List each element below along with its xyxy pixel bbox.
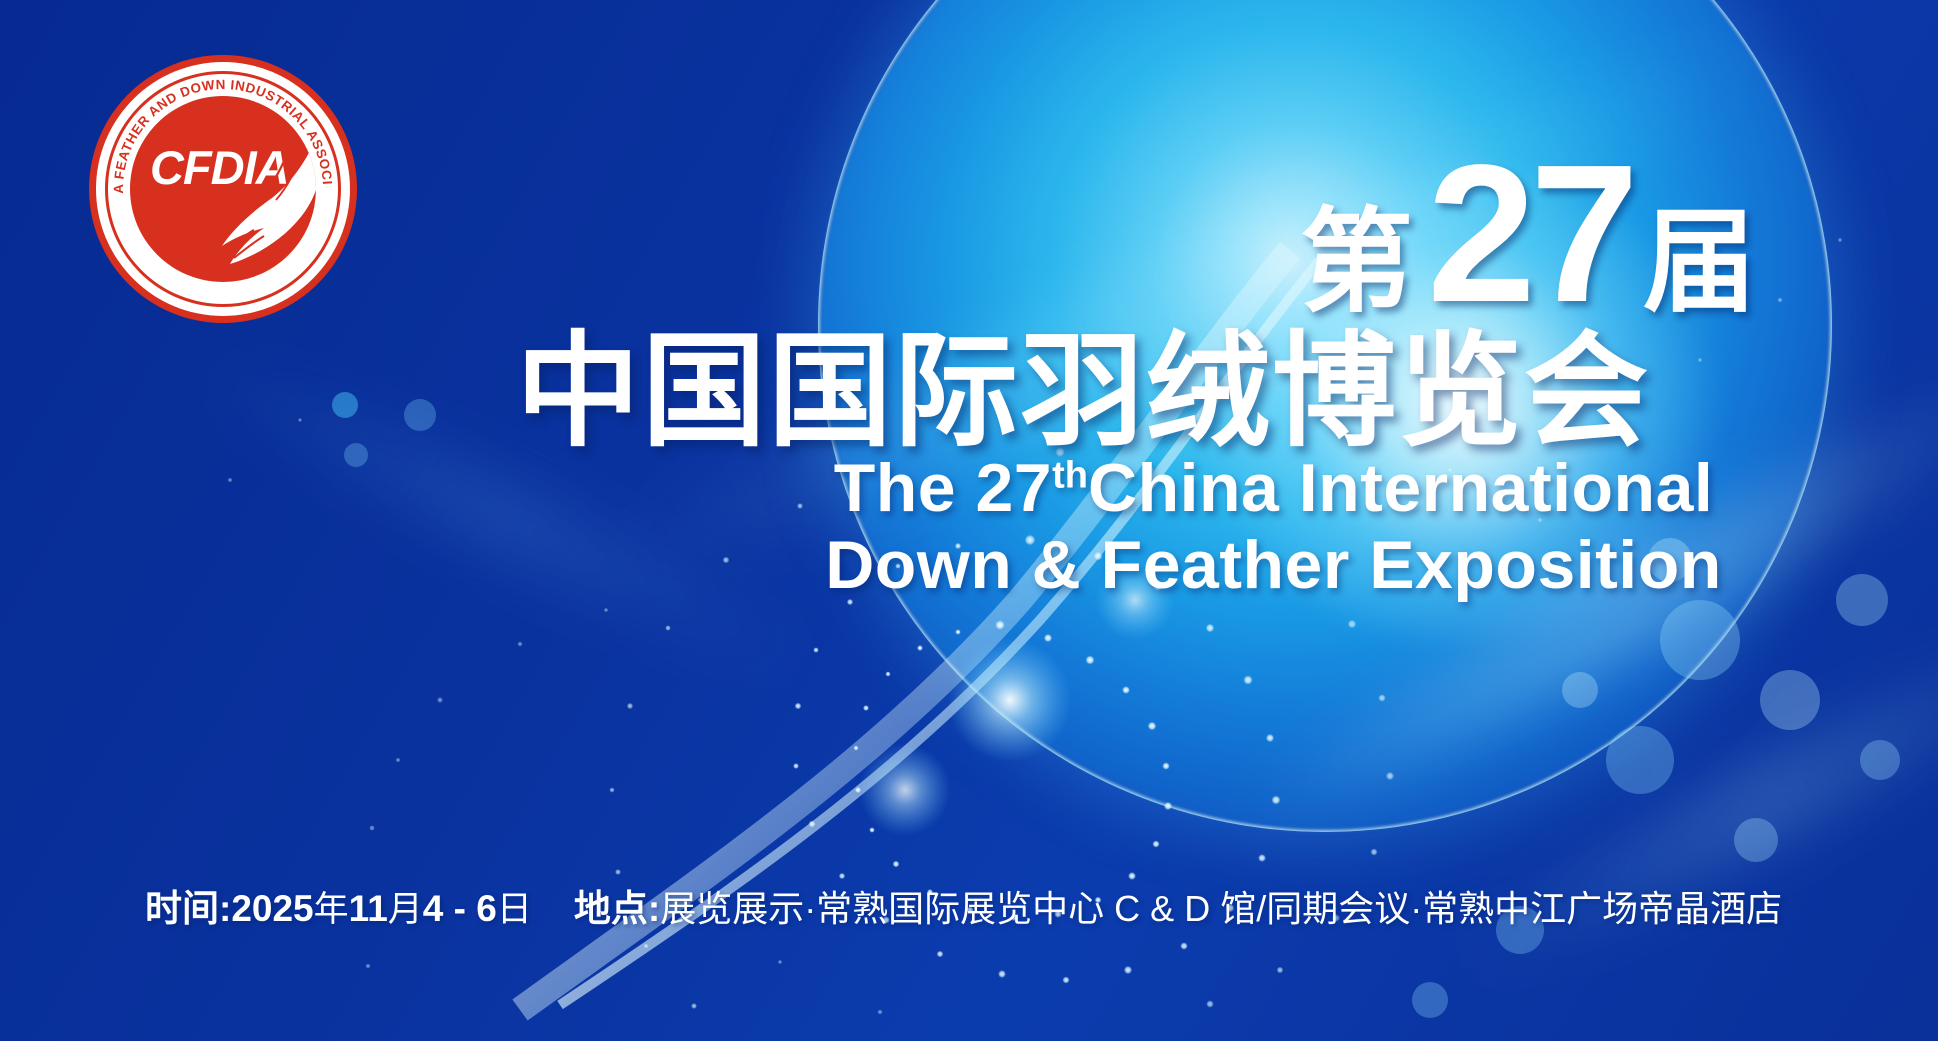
date-label: 时间	[145, 878, 219, 932]
date-year: 2025	[231, 888, 313, 930]
venue-label: 地点	[574, 878, 648, 932]
edition-title: 第 27 届	[1300, 150, 1756, 319]
ordinal-superscript: th	[1052, 454, 1088, 496]
main-title-english-line1-post: China International	[1088, 450, 1713, 526]
promotional-banner: CHINA FEATHER AND DOWN INDUSTRIAL ASSOCI…	[0, 0, 1938, 1041]
date-month-unit: 月	[388, 881, 423, 932]
main-title-english-line2: Down & Feather Exposition	[666, 529, 1881, 602]
main-title-english: The 27thChina International Down & Feath…	[666, 452, 1881, 603]
venue-colon: :	[648, 888, 660, 930]
date-colon: :	[219, 888, 231, 930]
edition-prefix: 第	[1300, 206, 1413, 319]
main-title-english-line1-pre: The 27	[834, 450, 1052, 526]
cfdia-logo: CHINA FEATHER AND DOWN INDUSTRIAL ASSOCI…	[96, 62, 350, 316]
event-details: 时间:2025年11月4 - 6日 地点:展览展示·常熟国际展览中心 C & D…	[145, 878, 1782, 932]
date-days: 4 - 6	[423, 888, 497, 930]
venue-text: 展览展示·常熟国际展览中心 C & D 馆/同期会议·常熟中江广场帝晶酒店	[660, 880, 1782, 932]
date-year-unit: 年	[314, 881, 349, 932]
edition-suffix: 届	[1643, 206, 1756, 319]
logo-disc: CFDIA	[130, 96, 316, 282]
date-month: 11	[349, 888, 388, 930]
main-title-chinese: 中国国际羽绒博览会	[516, 330, 1650, 454]
date-day-unit: 日	[497, 881, 532, 932]
feather-icon	[208, 132, 316, 272]
edition-number: 27	[1427, 150, 1633, 319]
light-streak	[1442, 600, 1938, 999]
